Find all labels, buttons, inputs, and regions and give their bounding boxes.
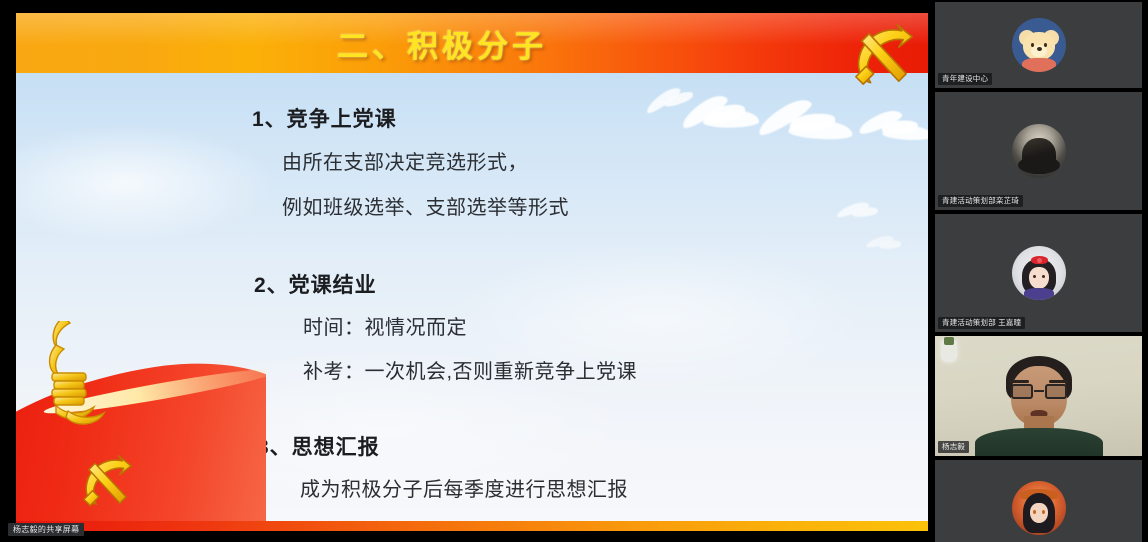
slide-title-banner: 二、积极分子 (16, 13, 928, 73)
participant-tile[interactable]: 青建活动策划部栾芷琦 (935, 92, 1142, 210)
bear-avatar (1012, 18, 1066, 72)
zoom-meeting-window: 二、积极分子 (0, 0, 1148, 542)
speaker-eyebrow (1049, 380, 1069, 383)
section-line: 例如班级选举、支部选举等形式 (282, 191, 928, 220)
participant-tile-active-speaker[interactable]: 杨志毅 (935, 336, 1142, 456)
section-line: 由所在支部决定竞选形式， (282, 146, 928, 175)
anime-girl-avatar (1012, 481, 1066, 535)
speaker-shirt (975, 428, 1103, 456)
wall-lamp (941, 340, 957, 362)
screen-share-label: 杨志毅的共享屏幕 (8, 523, 84, 536)
presentation-slide: 二、积极分子 (16, 13, 928, 531)
hammer-and-sickle-icon (844, 19, 918, 93)
participant-tile[interactable] (935, 460, 1142, 542)
slide-body: 1、竞争上党课 由所在支部决定竞选形式， 例如班级选举、支部选举等形式 2、党课… (16, 73, 928, 531)
speaker-eyebrow (1009, 380, 1029, 383)
snow-white-avatar (1012, 246, 1066, 300)
video-feed (935, 336, 1142, 456)
participant-name: 杨志毅 (938, 441, 969, 453)
dark-photo-avatar (1012, 124, 1066, 178)
section-line: 时间：视情况而定 (303, 311, 928, 340)
glasses-icon (1011, 384, 1067, 399)
participant-name: 青年建设中心 (938, 73, 992, 85)
participant-name: 青建活动策划部栾芷琦 (938, 195, 1023, 207)
slide-bottom-strip (16, 521, 928, 531)
shared-screen-region[interactable]: 二、积极分子 (0, 0, 929, 542)
section-heading: 1、竞争上党课 (252, 103, 928, 133)
participant-tile[interactable]: 青建活动策划部 王嘉曈 (935, 214, 1142, 332)
section-heading: 3、思想汇报 (257, 431, 928, 461)
section-heading: 2、党课结业 (254, 269, 928, 299)
section-line: 成为积极分子后每季度进行思想汇报 (300, 473, 928, 502)
participant-sidebar[interactable]: 青年建设中心 青建活动策划部栾芷琦 青建活动策划部 王嘉曈 (929, 0, 1148, 542)
participant-tile[interactable]: 青年建设中心 (935, 2, 1142, 88)
section-line: 补考：一次机会,否则重新竞争上党课 (303, 355, 928, 384)
slide-title: 二、积极分子 (16, 13, 928, 73)
participant-name: 青建活动策划部 王嘉曈 (938, 317, 1025, 329)
